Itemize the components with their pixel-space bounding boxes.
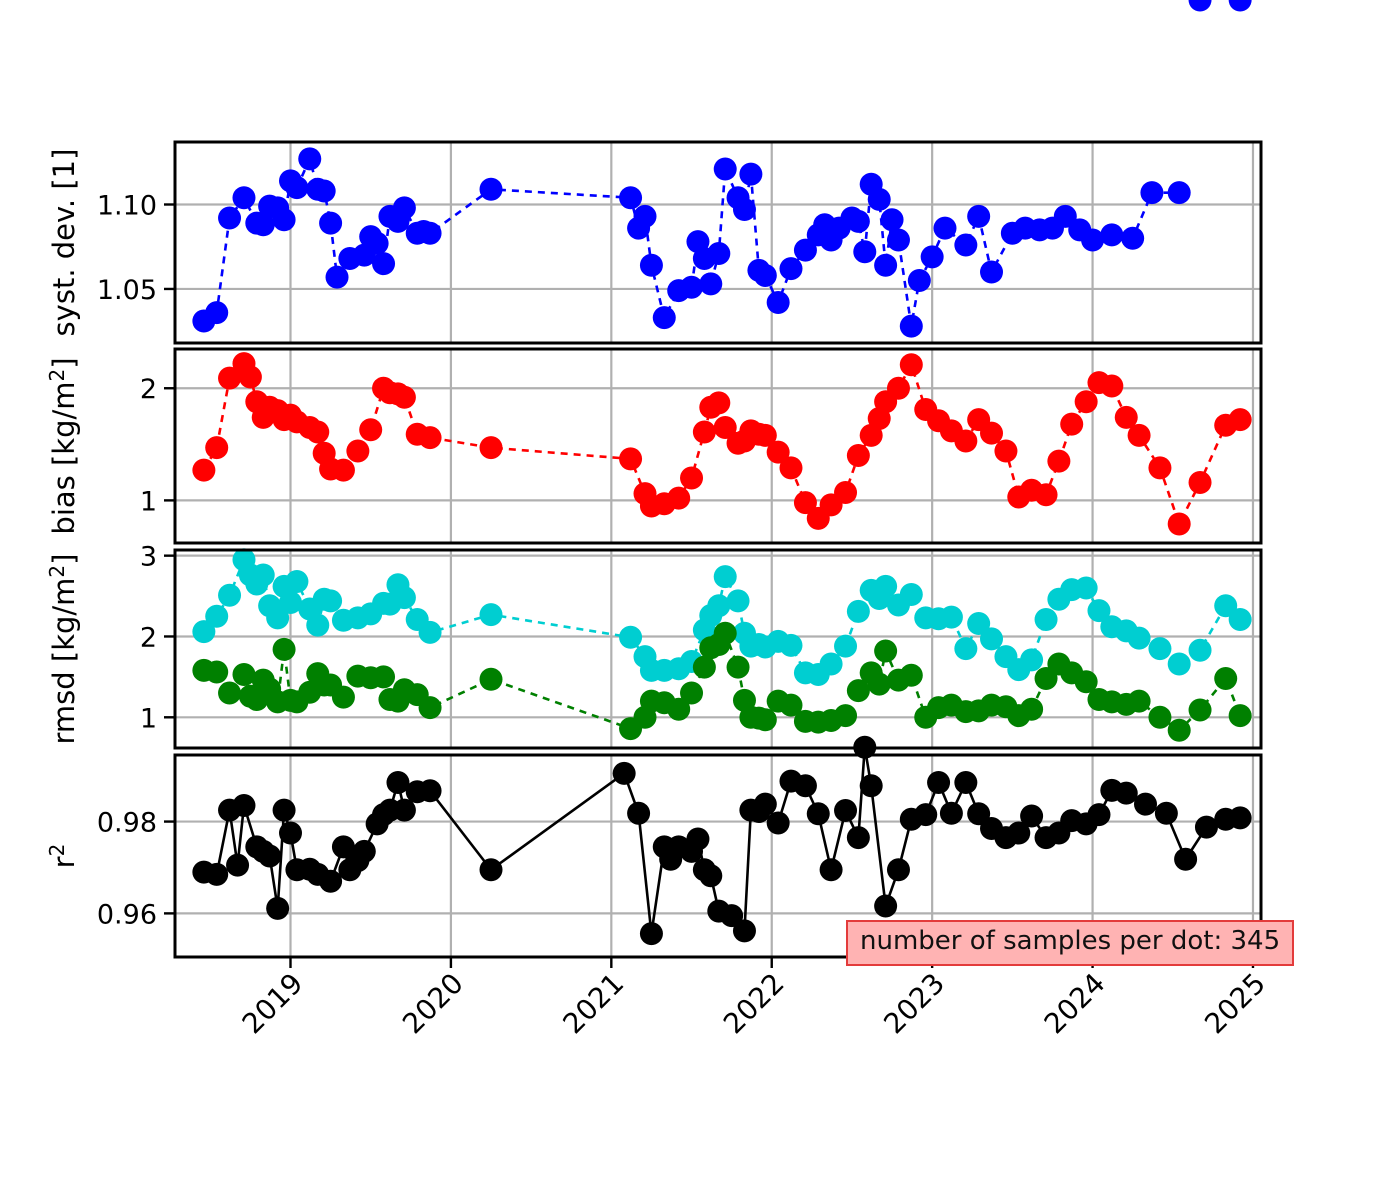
data-point-rmsd-lower (1020, 698, 1043, 721)
data-point-r-squared (887, 858, 910, 881)
data-point-bias (1035, 483, 1058, 506)
data-point-syst.-dev. (372, 252, 395, 275)
data-point-rmsd-upper (619, 626, 642, 649)
data-point-r-squared (807, 802, 830, 825)
data-point-syst.-dev. (393, 196, 416, 219)
data-point-syst.-dev. (273, 208, 296, 231)
data-point-r-squared (1229, 806, 1252, 829)
data-point-r-squared (820, 858, 843, 881)
data-point-rmsd-upper (980, 627, 1003, 650)
data-point-r-squared (1087, 803, 1110, 826)
data-point-bias (359, 418, 382, 441)
data-point-syst.-dev. (285, 176, 308, 199)
data-point-syst.-dev. (707, 242, 730, 265)
ytick-label: 1.05 (97, 275, 157, 306)
data-point-rmsd-lower (680, 682, 703, 705)
data-point-r-squared (273, 799, 296, 822)
data-point-bias (1168, 512, 1191, 535)
data-point-rmsd-upper (834, 635, 857, 658)
data-point-rmsd-upper (727, 589, 750, 612)
data-point-rmsd-upper (1168, 652, 1191, 675)
data-point-r-squared (613, 762, 636, 785)
data-point-bias (887, 377, 910, 400)
data-point-bias (1128, 424, 1151, 447)
data-point-bias (1189, 471, 1212, 494)
ytick-label: 1 (140, 486, 157, 517)
data-point-syst.-dev. (680, 276, 703, 299)
ytick-label: 2 (140, 622, 157, 653)
data-point-rmsd-upper (1148, 637, 1171, 660)
data-point-bias (1047, 450, 1070, 473)
data-point-syst.-dev. (634, 205, 657, 228)
data-point-bias (346, 440, 369, 463)
data-point-syst.-dev. (754, 264, 777, 287)
data-point-bias (1229, 408, 1252, 431)
data-point-rmsd-upper (285, 570, 308, 593)
data-point-rmsd-upper (480, 603, 503, 626)
data-point-bias (954, 429, 977, 452)
data-point-syst.-dev. (767, 291, 790, 314)
data-point-r-squared (767, 811, 790, 834)
data-point-rmsd-lower (372, 665, 395, 688)
samples-annotation: number of samples per dot: 345 (846, 920, 1294, 966)
data-point-rmsd-lower (480, 668, 503, 691)
data-point-rmsd-upper (940, 606, 963, 629)
data-point-rmsd-lower (1128, 690, 1151, 713)
data-point-r-squared (1155, 802, 1178, 825)
data-point-syst.-dev. (967, 205, 990, 228)
data-point-syst.-dev. (699, 272, 722, 295)
data-point-r-squared (927, 771, 950, 794)
data-point-syst.-dev. (366, 232, 389, 255)
data-point-r-squared (733, 919, 756, 942)
ylabel-panel-1: syst. dev. [1] (47, 149, 81, 337)
data-point-rmsd-lower (218, 682, 241, 705)
data-point-rmsd-upper (393, 586, 416, 609)
data-point-rmsd-lower (1229, 704, 1252, 727)
data-point-rmsd-lower (205, 661, 228, 684)
data-point-syst.-dev. (908, 269, 931, 292)
data-point-rmsd-lower (834, 704, 857, 727)
data-point-syst.-dev. (326, 266, 349, 289)
data-point-syst.-dev. (733, 198, 756, 221)
data-point-bias (847, 444, 870, 467)
data-point-rmsd-lower (1168, 719, 1191, 742)
data-point-r-squared (847, 826, 870, 849)
data-point-r-squared (914, 803, 937, 826)
data-point-syst.-dev. (980, 261, 1003, 284)
data-point-syst.-dev. (874, 254, 897, 277)
data-point-rmsd-upper (1075, 576, 1098, 599)
data-point-r-squared (860, 774, 883, 797)
data-point-syst.-dev. (298, 147, 321, 170)
data-point-syst.-dev. (1121, 227, 1144, 250)
data-point-rmsd-upper (319, 589, 342, 612)
data-point-rmsd-lower (419, 696, 442, 719)
svg-text:rmsd [kg/m2]: rmsd [kg/m2] (45, 554, 81, 745)
data-point-r-squared (480, 858, 503, 881)
data-point-bias (667, 487, 690, 510)
data-point-r-squared (1020, 805, 1043, 828)
data-point-syst.-dev. (881, 208, 904, 231)
data-point-r-squared (419, 779, 442, 802)
ytick-label: 2 (140, 374, 157, 405)
data-point-r-squared (834, 799, 857, 822)
ylabel-panel-2: bias [kg/m2] (45, 357, 81, 534)
data-point-bias (619, 447, 642, 470)
data-point-r-squared (353, 840, 376, 863)
ytick-label: 3 (140, 542, 157, 573)
figure-container: 1.051.10syst. dev. [1]12bias [kg/m2]123r… (0, 0, 1400, 1200)
data-point-r-squared (226, 854, 249, 877)
data-point-rmsd-lower (727, 656, 750, 679)
data-point-rmsd-upper (1189, 639, 1212, 662)
data-point-bias (480, 436, 503, 459)
data-point-syst.-dev. (779, 257, 802, 280)
data-point-syst.-dev. (1168, 181, 1191, 204)
data-point-rmsd-upper (419, 621, 442, 644)
data-point-rmsd-upper (847, 600, 870, 623)
data-point-rmsd-upper (820, 652, 843, 675)
data-point-bias (239, 366, 262, 389)
ytick-label: 0.98 (97, 808, 157, 839)
data-point-r-squared (205, 863, 228, 886)
data-point-syst.-dev. (921, 245, 944, 268)
figure-background (0, 0, 1400, 1200)
data-point-bias (994, 440, 1017, 463)
data-point-syst.-dev. (853, 240, 876, 263)
data-point-rmsd-lower (273, 638, 296, 661)
data-point-syst.-dev. (319, 212, 342, 235)
svg-text:bias [kg/m2]: bias [kg/m2] (45, 357, 81, 534)
data-point-bias (1075, 390, 1098, 413)
ytick-label: 0.96 (97, 899, 157, 930)
data-point-syst.-dev. (900, 315, 923, 338)
ytick-label: 1 (140, 703, 157, 734)
data-point-r-squared (754, 793, 777, 816)
data-point-bias (306, 420, 329, 443)
data-point-syst.-dev. (887, 228, 910, 251)
data-point-bias (393, 386, 416, 409)
data-point-r-squared (794, 774, 817, 797)
data-point-syst.-dev. (232, 186, 255, 209)
data-point-bias (419, 426, 442, 449)
data-point-bias (779, 456, 802, 479)
data-point-rmsd-upper (707, 594, 730, 617)
data-point-r-squared (686, 828, 709, 851)
data-point-syst.-dev. (847, 210, 870, 233)
data-point-rmsd-lower (754, 708, 777, 731)
data-point-r-squared (232, 794, 255, 817)
data-point-r-squared (874, 895, 897, 918)
data-point-r-squared (699, 864, 722, 887)
data-point-bias (1100, 375, 1123, 398)
data-point-syst.-dev. (1081, 228, 1104, 251)
data-point-rmsd-lower (332, 686, 355, 709)
data-point-syst.-dev. (218, 207, 241, 230)
data-point-rmsd-upper (1035, 608, 1058, 631)
data-point-syst.-dev. (205, 301, 228, 324)
data-point-bias (205, 436, 228, 459)
data-point-syst.-dev. (868, 188, 891, 211)
data-point-bias (693, 420, 716, 443)
data-point-r-squared (319, 870, 342, 893)
data-point-rmsd-lower (1214, 667, 1237, 690)
data-point-syst.-dev. (619, 186, 642, 209)
data-point-r-squared (627, 802, 650, 825)
data-point-bias (1060, 413, 1083, 436)
data-point-syst.-dev. (480, 178, 503, 201)
multi-panel-time-series-chart: 1.051.10syst. dev. [1]12bias [kg/m2]123r… (0, 0, 1400, 1200)
ylabel-panel-3: rmsd [kg/m2] (45, 554, 81, 745)
data-point-syst.-dev. (739, 163, 762, 186)
data-point-syst.-dev. (419, 222, 442, 245)
data-point-rmsd-lower (1189, 699, 1212, 722)
data-point-rmsd-lower (900, 664, 923, 687)
data-point-rmsd-upper (874, 575, 897, 598)
data-point-rmsd-lower (868, 673, 891, 696)
data-point-syst.-dev. (640, 254, 663, 277)
data-point-rmsd-upper (218, 584, 241, 607)
data-point-bias (332, 459, 355, 482)
data-point-syst.-dev. (313, 179, 336, 202)
data-point-rmsd-upper (1128, 627, 1151, 650)
data-point-r-squared (1115, 782, 1138, 805)
data-point-rmsd-upper (779, 634, 802, 657)
data-point-bias (1148, 456, 1171, 479)
data-point-r-squared (279, 822, 302, 845)
data-point-rmsd-upper (1020, 648, 1043, 671)
data-point-r-squared (1174, 848, 1197, 871)
data-point-rmsd-lower (714, 622, 737, 645)
data-point-rmsd-upper (1229, 608, 1252, 631)
data-point-syst.-dev. (933, 217, 956, 240)
data-point-r-squared (266, 897, 289, 920)
data-point-bias (680, 466, 703, 489)
data-point-bias (834, 481, 857, 504)
data-point-rmsd-upper (954, 637, 977, 660)
data-point-syst.-dev. (653, 306, 676, 329)
data-point-rmsd-upper (900, 583, 923, 606)
data-point-bias (900, 353, 923, 376)
data-point-rmsd-upper (252, 564, 275, 587)
data-point-syst.-dev. (954, 234, 977, 257)
data-point-bias (980, 422, 1003, 445)
data-point-rmsd-lower (874, 640, 897, 663)
data-point-bias (707, 391, 730, 414)
data-point-syst.-dev. (1100, 223, 1123, 246)
data-point-r-squared (258, 845, 281, 868)
data-point-rmsd-upper (714, 565, 737, 588)
data-point-rmsd-upper (205, 605, 228, 628)
data-point-r-squared (1134, 793, 1157, 816)
data-point-syst.-dev. (1140, 181, 1163, 204)
svg-text:syst. dev. [1]: syst. dev. [1] (47, 149, 81, 337)
ytick-label: 1.10 (97, 190, 157, 221)
data-point-r-squared (940, 802, 963, 825)
data-point-rmsd-upper (306, 614, 329, 637)
data-point-rmsd-lower (1148, 706, 1171, 729)
data-point-syst.-dev. (714, 158, 737, 181)
data-point-bias (192, 459, 215, 482)
data-point-r-squared (640, 922, 663, 945)
data-point-r-squared (954, 771, 977, 794)
